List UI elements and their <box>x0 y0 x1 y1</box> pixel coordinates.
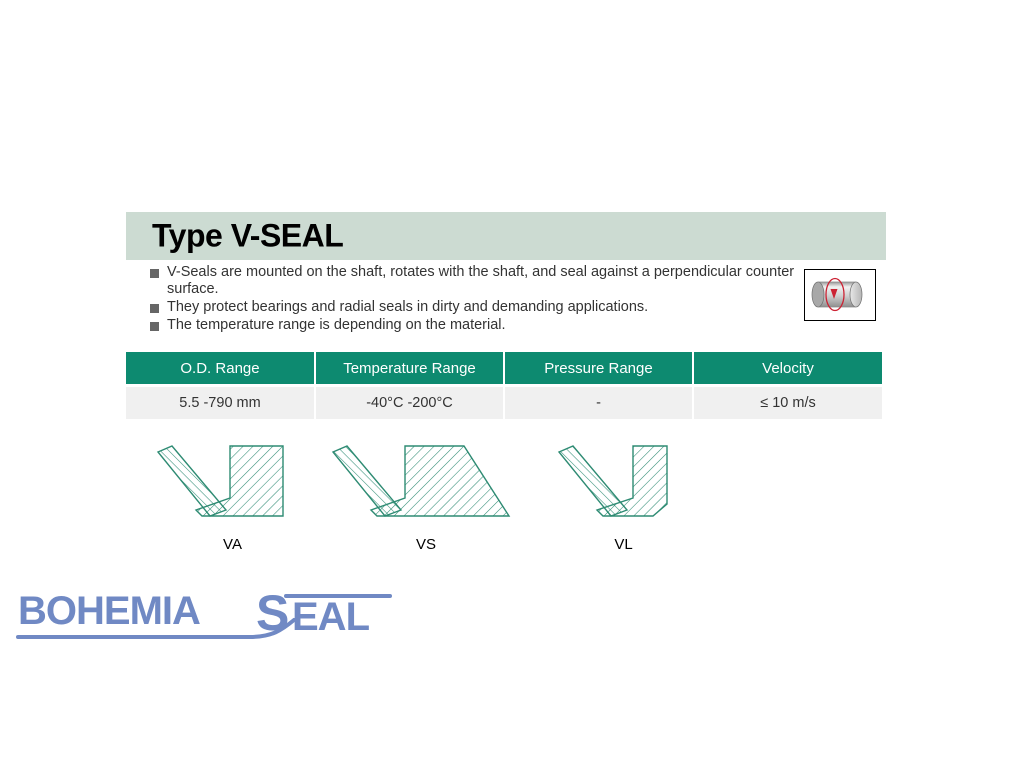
column-header-od-range: O.D. Range <box>126 352 315 386</box>
seal-profile-vl-label: VL <box>541 536 706 553</box>
cell-od-range: 5.5 -790 mm <box>126 386 315 420</box>
square-bullet-icon <box>150 304 159 313</box>
table-row: 5.5 -790 mm -40°C -200°C - ≤ 10 m/s <box>126 386 882 420</box>
square-bullet-icon <box>150 322 159 331</box>
column-header-temperature-range: Temperature Range <box>315 352 504 386</box>
title-bar: Type V-SEAL <box>126 212 886 260</box>
seal-profile-diagrams: VA VS VL <box>126 440 886 565</box>
seal-profile-va-drawing <box>150 440 315 530</box>
table-header-row: O.D. Range Temperature Range Pressure Ra… <box>126 352 882 386</box>
specification-table: O.D. Range Temperature Range Pressure Ra… <box>126 352 882 419</box>
rotating-shaft-icon <box>804 269 876 321</box>
logo-text-bohemia: BOHEMIA <box>18 589 200 633</box>
square-bullet-icon <box>150 269 159 278</box>
seal-profile-va-label: VA <box>150 536 315 553</box>
description-list: V-Seals are mounted on the shaft, rotate… <box>150 264 795 335</box>
seal-profile-vs-drawing <box>331 440 521 530</box>
cell-pressure-range: - <box>504 386 693 420</box>
cell-velocity: ≤ 10 m/s <box>693 386 882 420</box>
list-item-text: V-Seals are mounted on the shaft, rotate… <box>167 264 795 298</box>
seal-profile-vl-drawing <box>541 440 706 530</box>
page-title: Type V-SEAL <box>152 218 343 255</box>
cell-temperature-range: -40°C -200°C <box>315 386 504 420</box>
list-item: V-Seals are mounted on the shaft, rotate… <box>150 264 795 298</box>
list-item: They protect bearings and radial seals i… <box>150 299 795 316</box>
column-header-velocity: Velocity <box>693 352 882 386</box>
column-header-pressure-range: Pressure Range <box>504 352 693 386</box>
list-item-text: They protect bearings and radial seals i… <box>167 299 648 316</box>
list-item-text: The temperature range is depending on th… <box>167 317 506 334</box>
list-item: The temperature range is depending on th… <box>150 317 795 334</box>
seal-profile-vs: VS <box>331 440 521 553</box>
seal-profile-vs-label: VS <box>331 536 521 553</box>
seal-profile-va: VA <box>150 440 315 553</box>
logo-text-s: S <box>256 586 289 641</box>
bohemia-seal-logo: BOHEMIA S EAL <box>14 586 394 642</box>
seal-profile-vl: VL <box>541 440 706 553</box>
logo-text-eal: EAL <box>292 595 370 639</box>
